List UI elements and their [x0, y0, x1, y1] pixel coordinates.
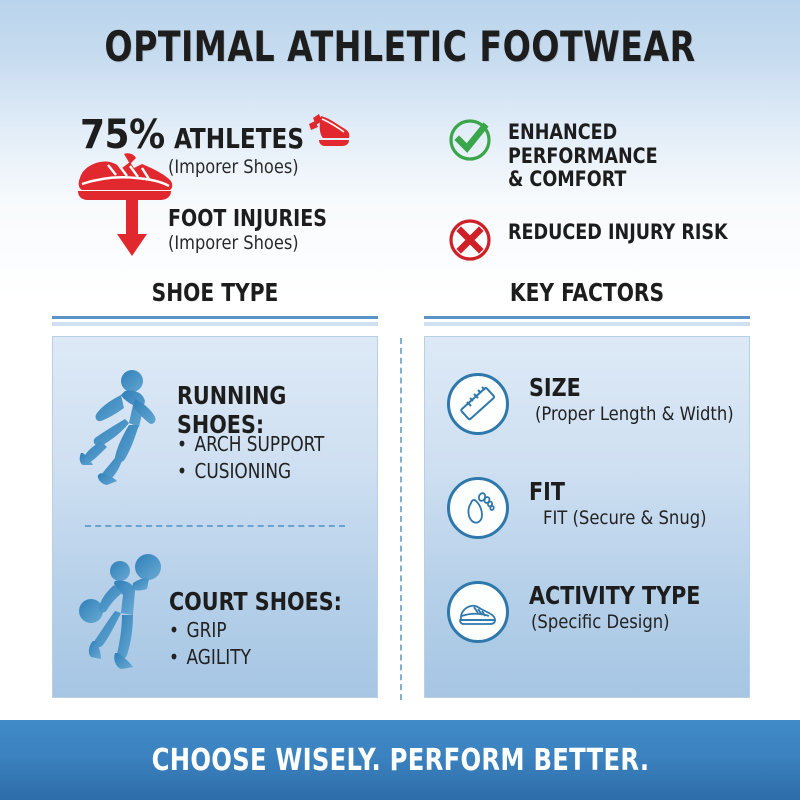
shoe-type-title: COURT SHOES: [169, 587, 342, 616]
key-factor-size: SIZE (Proper Length & Width) [447, 373, 742, 435]
statistics-block: 75% ATHLETES (Imporer Shoes) [58, 108, 388, 278]
key-factor-title: ACTIVITY TYPE [529, 583, 700, 609]
arrow-down-icon [115, 200, 149, 263]
benefit-enhanced-performance: ENHANCED PERFORMANCE & COMFORT [448, 118, 778, 192]
key-factor-title: SIZE [529, 375, 725, 401]
bullet-item: CUSIONING [177, 458, 324, 485]
key-factor-sub: FIT (Secure & Snug) [543, 507, 707, 529]
key-factor-title: FIT [529, 479, 699, 505]
foot-injuries-sublabel: (Imporer Shoes) [168, 232, 299, 254]
footprint-icon [447, 477, 509, 539]
x-circle-icon [448, 218, 492, 267]
key-factor-text: FIT FIT (Secure & Snug) [529, 479, 713, 529]
runner-icon [77, 365, 169, 494]
bullet-item: ARCH SUPPORT [177, 431, 324, 458]
shoe-type-bullets: GRIP AGILITY [169, 617, 256, 671]
key-factor-activity-type: ACTIVITY TYPE (Specific Design) [447, 581, 715, 643]
check-circle-icon [448, 118, 492, 167]
athletes-sublabel: (Imporer Shoes) [168, 156, 299, 178]
key-factor-sub: (Proper Length & Width) [535, 403, 734, 425]
benefit-label: REDUCED INJURY RISK [508, 221, 728, 245]
foot-injuries-label: FOOT INJURIES [168, 206, 327, 232]
heading-rule-right [424, 316, 750, 319]
benefits-list: ENHANCED PERFORMANCE & COMFORT REDUCED I… [448, 118, 778, 293]
heading-rule-right-soft [424, 322, 750, 326]
key-factors-panel: SIZE (Proper Length & Width) FIT [424, 336, 750, 698]
bullet-item: AGILITY [169, 644, 251, 671]
shoe-type-court: COURT SHOES: GRIP AGILITY [53, 549, 379, 689]
page-title: OPTIMAL ATHLETIC FOOTWEAR [48, 22, 752, 71]
footer-text: CHOOSE WISELY. PERFORM BETTER. [151, 743, 649, 778]
column-divider [400, 338, 402, 700]
bullet-item: GRIP [169, 617, 251, 644]
page-title-container: OPTIMAL ATHLETIC FOOTWEAR [0, 22, 800, 71]
key-factor-text: ACTIVITY TYPE (Specific Design) [529, 583, 715, 633]
section-heading-key-factors: KEY FACTORS [440, 278, 733, 307]
benefit-label: ENHANCED PERFORMANCE & COMFORT [508, 121, 759, 192]
shoe-type-running: RUNNING SHOES: ARCH SUPPORT CUSIONING [53, 365, 379, 505]
benefit-reduced-injury-risk: REDUCED INJURY RISK [448, 218, 778, 267]
shoe-type-bullets: ARCH SUPPORT CUSIONING [177, 431, 334, 485]
infographic-poster: OPTIMAL ATHLETIC FOOTWEAR 75% ATHLETES (… [0, 0, 800, 800]
shoe-icon [299, 112, 351, 155]
key-factor-sub: (Specific Design) [531, 611, 708, 633]
heading-rule-left-soft [52, 322, 378, 326]
heading-rule-left [52, 316, 378, 319]
panel-dashed-separator [85, 525, 345, 527]
key-factor-fit: FIT FIT (Secure & Snug) [447, 477, 713, 539]
basketball-player-icon [77, 549, 169, 678]
footer-banner: CHOOSE WISELY. PERFORM BETTER. [0, 720, 800, 800]
key-factor-text: SIZE (Proper Length & Width) [529, 375, 742, 425]
shoe-type-panel: RUNNING SHOES: ARCH SUPPORT CUSIONING [52, 336, 378, 698]
athletes-label: ATHLETES [174, 122, 304, 155]
sneaker-icon [447, 581, 509, 643]
ruler-icon [447, 373, 509, 435]
section-heading-shoe-type: SHOE TYPE [68, 278, 361, 307]
